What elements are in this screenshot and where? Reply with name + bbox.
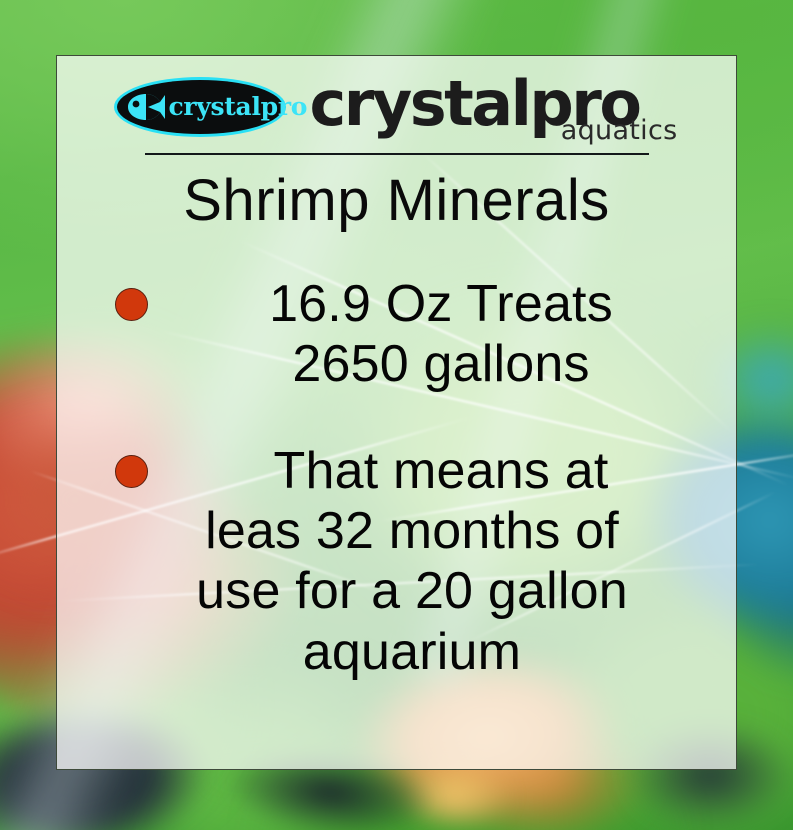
feature-text: 16.9 Oz Treats 2650 gallons [178, 274, 722, 395]
feature-list: 16.9 Oz Treats 2650 gallons That means a… [57, 274, 736, 769]
bullet-dot-icon [115, 288, 148, 321]
bullet-dot-icon [115, 455, 148, 488]
fish-icon [126, 92, 166, 122]
wordmark-secondary: aquatics [561, 117, 678, 144]
crystalpro-wordmark: crystalpro aquatics [310, 71, 680, 143]
content-panel: crystalpro crystalpro aquatics Shrimp Mi… [56, 55, 737, 770]
feature-text: That means at leas 32 months of use for … [178, 441, 722, 682]
feature-line: 16.9 Oz Treats [269, 275, 613, 333]
product-title: Shrimp Minerals [183, 169, 610, 234]
list-item: 16.9 Oz Treats 2650 gallons [115, 274, 722, 395]
crystalpro-logo-badge: crystalpro [114, 77, 286, 137]
feature-line: use for a 20 gallon [120, 561, 704, 621]
feature-line: That means at [274, 442, 609, 500]
badge-inner-body: crystalpro [117, 80, 283, 134]
feature-line: aquarium [120, 622, 704, 682]
brand-header: crystalpro crystalpro aquatics [57, 56, 736, 151]
list-item: That means at leas 32 months of use for … [115, 441, 722, 682]
feature-line: leas 32 months of [120, 501, 704, 561]
feature-line: 2650 gallons [292, 335, 589, 393]
header-divider [145, 153, 649, 155]
product-infographic: crystalpro crystalpro aquatics Shrimp Mi… [0, 0, 793, 830]
badge-wordmark: crystalpro [169, 94, 308, 119]
